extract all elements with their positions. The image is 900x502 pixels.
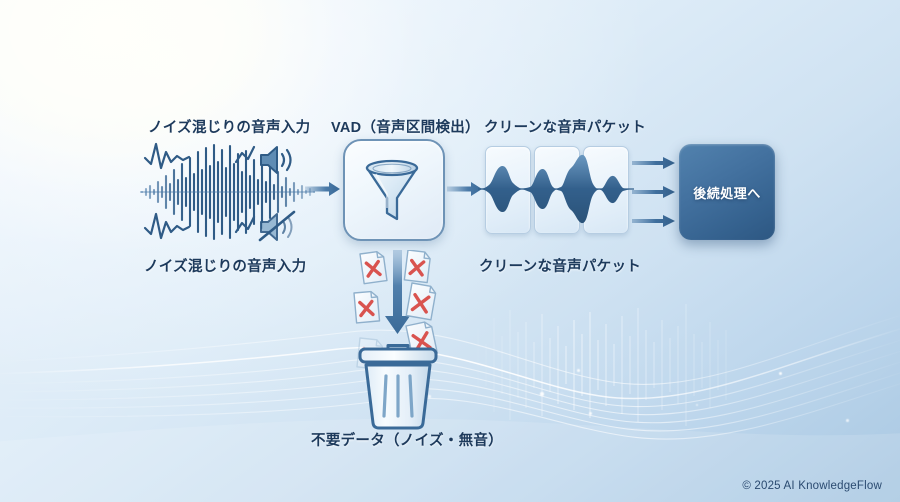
- trash-can-icon[interactable]: [355, 343, 441, 431]
- speaker-muted-icon: [257, 210, 297, 244]
- clean-waveform-icon: [478, 146, 634, 232]
- label-noisy-input-bottom: ノイズ混じりの音声入力: [144, 255, 306, 276]
- sparkle-dot: [540, 392, 544, 396]
- arrow-right-icon: [632, 155, 676, 171]
- sparkle-dot: [779, 372, 782, 375]
- funnel-icon: [364, 158, 420, 222]
- sparkle-dot: [846, 419, 849, 422]
- sparkle-dot: [589, 412, 592, 415]
- label-clean-packets-top: クリーンな音声パケット: [484, 116, 646, 137]
- label-discarded-data: 不要データ（ノイズ・無音）: [311, 429, 503, 450]
- downstream-processing-box[interactable]: 後続処理へ: [679, 144, 775, 240]
- arrow-right-icon: [305, 180, 341, 198]
- downstream-processing-label: 後続処理へ: [693, 183, 761, 202]
- label-noisy-input-top: ノイズ混じりの音声入力: [148, 116, 310, 137]
- speaker-on-icon: [257, 144, 297, 176]
- copyright-footer: © 2025 AI KnowledgeFlow: [742, 480, 882, 492]
- sparkle-dot: [577, 369, 580, 372]
- arrow-right-icon: [632, 213, 676, 229]
- diagram-canvas: ノイズ混じりの音声入力: [0, 0, 900, 502]
- label-clean-packets-bottom: クリーンな音声パケット: [479, 255, 641, 276]
- arrow-right-icon: [632, 184, 676, 200]
- sparkle-dot: [696, 404, 698, 406]
- label-vad-title: VAD（音声区間検出）: [331, 116, 480, 137]
